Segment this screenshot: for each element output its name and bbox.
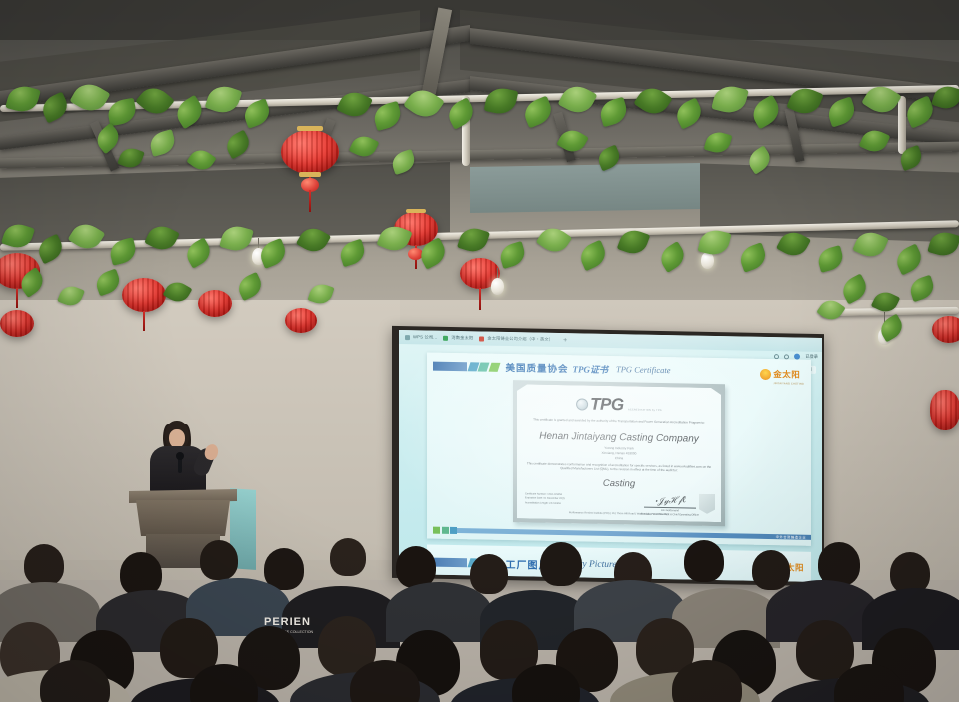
certificate-scope: Casting — [517, 476, 721, 491]
brand-subtitle: JINTAIYANG CASTING — [773, 382, 804, 386]
browser-tab-2[interactable]: 河南金太阳 — [443, 335, 473, 342]
light-bulb — [491, 278, 504, 295]
favicon-icon — [479, 336, 484, 341]
minimize-icon[interactable] — [774, 354, 779, 359]
audience-head — [200, 540, 238, 580]
audience-head — [540, 542, 582, 586]
certificate-length: Accreditation Length: 24 months — [525, 501, 565, 506]
certificate-body-text: This certificate demonstrates conformanc… — [526, 461, 712, 474]
browser-tab-1[interactable]: WPS 公司... — [405, 334, 437, 341]
sun-icon — [760, 369, 771, 380]
browser-tab-2-label: 河南金太阳 — [451, 335, 473, 341]
company-brand-logo: 金太阳 JINTAIYANG CASTING — [760, 364, 804, 386]
audience: PERIEN EXPERIENCE COLLECTION — [0, 530, 959, 702]
tpg-logo: TPG ACCREDITATION by TPG — [576, 394, 662, 416]
browser-tab-3-label: 金太阳铸业公司介绍（中・英文） — [487, 336, 553, 343]
browser-tab-3-active[interactable]: 金太阳铸业公司介绍（中・英文） — [479, 335, 553, 342]
browser-tab-1-label: WPS 公司... — [413, 334, 437, 340]
favicon-icon — [443, 335, 448, 340]
audience-head — [470, 554, 508, 594]
audience-head — [24, 544, 64, 586]
slide-title-tpg: TPG证书 — [573, 362, 609, 376]
scene-root: WPS 公司... 河南金太阳 金太阳铸业公司介绍（中・英文） + 已登录 ⛶ … — [0, 0, 959, 702]
presentation-slide-certificate: 美国质量协会 TPG证书 TPG Certificate 金太阳 JINTAIY… — [427, 352, 811, 545]
tpg-logo-text: TPG — [590, 395, 623, 415]
audience-head — [752, 550, 790, 590]
microphone-head — [176, 452, 184, 460]
audience-head — [330, 538, 366, 576]
tpg-logo-tagline: ACCREDITATION by TPG — [628, 408, 662, 412]
certificate-address: Yutong Industry Park Xinxiang, Henan 453… — [517, 444, 721, 463]
favicon-icon — [405, 335, 410, 340]
certificate-border: TPG ACCREDITATION by TPG This certificat… — [513, 380, 725, 526]
certificate-intro-text: This certificate is granted and awarded … — [526, 417, 712, 425]
certificate-body: TPG ACCREDITATION by TPG This certificat… — [517, 384, 721, 522]
certificate-company-name: Henan Jintaiyang Casting Company — [517, 430, 721, 445]
slide-header: 美国质量协会 TPG证书 TPG Certificate — [427, 356, 811, 381]
ceiling-pipe-vertical-2 — [898, 96, 906, 154]
brand-name: 金太阳 — [773, 370, 800, 381]
signature-mark: ꞏ𝒥𝓎ℋ𝒻ℓ — [640, 491, 699, 508]
audience-head — [684, 540, 724, 582]
certificate-seal — [699, 494, 715, 514]
slide-title-english: TPG Certificate — [616, 364, 671, 375]
globe-icon — [576, 398, 588, 410]
certificate-left-notes: Certificate Number: 1234-123456 Expirati… — [525, 492, 565, 506]
slide-accent-bars — [433, 361, 499, 371]
slide-title-chinese: 美国质量协会 — [506, 360, 569, 375]
maximize-icon[interactable] — [784, 354, 789, 359]
new-tab-button[interactable]: + — [563, 337, 567, 344]
